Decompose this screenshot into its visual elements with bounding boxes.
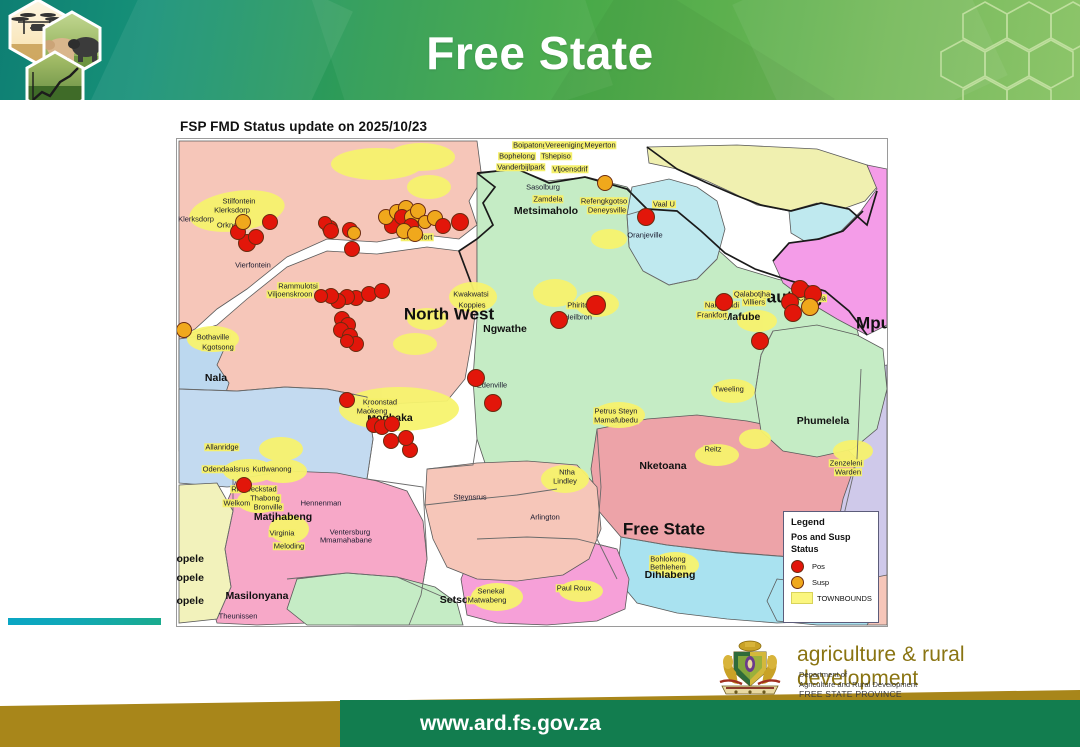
town-label: Tweeling	[713, 385, 745, 393]
town-label: Bophelong	[498, 152, 536, 160]
case-point-pos[interactable]	[236, 477, 252, 493]
town-label: Boipatong	[512, 141, 548, 149]
town-label: Vaal U	[652, 200, 676, 208]
case-point-susp[interactable]	[235, 214, 251, 230]
town-label: Vereeniging	[544, 141, 586, 149]
town-label: Senekal	[476, 587, 505, 595]
townbounds-swatch-icon	[791, 592, 813, 604]
town-label: Viljoenskroon	[267, 290, 314, 298]
case-point-pos[interactable]	[550, 311, 568, 329]
municipality-label: Nketoana	[639, 461, 686, 472]
map-container[interactable]: North West Gauteng Mpumalanga Free State…	[176, 138, 888, 627]
town-label: Mmamahabane	[320, 536, 372, 544]
town-label: Koppies	[457, 301, 486, 309]
municipality-label: Tswelopele	[176, 554, 204, 565]
town-label: Warden	[834, 468, 862, 476]
page-header: Free State	[0, 0, 1080, 106]
case-point-susp[interactable]	[801, 298, 819, 316]
town-label: Vanderbijlpark	[496, 163, 545, 171]
case-point-pos[interactable]	[751, 332, 769, 350]
town-label: Zenzeleni	[829, 459, 864, 467]
case-point-pos[interactable]	[484, 394, 502, 412]
town-label: Steynsrus	[453, 493, 486, 501]
case-point-pos[interactable]	[314, 289, 328, 303]
municipality-label: Dihlabeng	[645, 570, 696, 581]
website-url[interactable]: www.ard.fs.gov.za	[340, 700, 1080, 747]
case-point-pos[interactable]	[637, 208, 655, 226]
town-label: Klerksdorp	[178, 215, 214, 223]
case-point-pos[interactable]	[340, 334, 354, 348]
provincial-crest-icon	[712, 636, 788, 702]
town-label: Mamafubedu	[593, 416, 639, 424]
case-point-susp[interactable]	[407, 226, 423, 242]
case-point-pos[interactable]	[715, 293, 733, 311]
town-label: Welkom	[223, 499, 252, 507]
map-caption: FSP FMD Status update on 2025/10/23	[180, 119, 427, 134]
case-point-pos[interactable]	[451, 213, 469, 231]
case-point-pos[interactable]	[467, 369, 485, 387]
case-point-susp[interactable]	[176, 322, 192, 338]
town-label: Virginia	[269, 529, 296, 537]
town-label: Stilfontein	[222, 197, 257, 205]
map-legend: Legend Pos and Susp Status Pos Susp TOWN…	[783, 511, 879, 623]
municipality-label: Nala	[205, 373, 227, 384]
teal-accent-bar	[8, 618, 161, 625]
legend-subtitle-status: Status	[791, 544, 878, 554]
town-label: Bronville	[253, 503, 284, 511]
town-label: Meloding	[273, 542, 305, 550]
case-point-susp[interactable]	[347, 226, 361, 240]
town-label: Zamdela	[532, 195, 563, 203]
case-point-pos[interactable]	[374, 283, 390, 299]
town-label: Sasolburg	[526, 183, 560, 191]
municipality-label: Mafube	[724, 312, 761, 323]
brand-subtitle: Department of Agriculture and Rural Deve…	[799, 670, 917, 700]
header-divider	[0, 100, 1080, 106]
town-label: Meyerton	[583, 141, 616, 149]
case-point-pos[interactable]	[344, 241, 360, 257]
case-point-pos[interactable]	[339, 392, 355, 408]
municipality-label: Matjhabeng	[254, 512, 312, 523]
town-label: Bethlehem	[649, 563, 687, 571]
town-label: Paul Roux	[556, 584, 593, 592]
case-point-susp[interactable]	[597, 175, 613, 191]
town-label: Matwabeng	[467, 596, 508, 604]
town-label: Hennenman	[301, 499, 342, 507]
town-label: Deneysville	[587, 206, 627, 214]
legend-label: Susp	[812, 578, 829, 587]
legend-item-susp: Susp	[791, 574, 878, 590]
town-label: Ntha	[558, 468, 576, 476]
case-point-pos[interactable]	[586, 295, 606, 315]
town-label: Bothaville	[196, 333, 231, 341]
case-point-pos[interactable]	[383, 433, 399, 449]
susp-marker-icon	[791, 576, 804, 589]
municipality-label: Tswelopele	[176, 596, 204, 607]
town-label: Tshepiso	[540, 152, 572, 160]
case-point-pos[interactable]	[384, 416, 400, 432]
legend-item-pos: Pos	[791, 558, 878, 574]
province-label: Free State	[623, 521, 705, 538]
legend-item-townbounds: TOWNBOUNDS	[791, 590, 878, 606]
town-label: Vljoensdrif	[551, 165, 588, 173]
case-point-pos[interactable]	[323, 223, 339, 239]
town-label: Petrus Steyn	[594, 407, 639, 415]
case-point-pos[interactable]	[435, 218, 451, 234]
town-label: Reitz	[703, 445, 722, 453]
town-label: Lindley	[552, 477, 578, 485]
town-label: Kutlwanong	[251, 465, 292, 473]
legend-title: Legend	[791, 517, 878, 528]
brand-dept-line3: FREE STATE PROVINCE	[799, 689, 917, 700]
town-label: Thabong	[249, 494, 281, 502]
municipality-label: Ngwathe	[483, 324, 527, 335]
case-point-pos[interactable]	[398, 430, 414, 446]
town-label: Klerksdorp	[213, 206, 251, 214]
town-label: Oranjeville	[627, 231, 662, 239]
page-title: Free State	[0, 0, 1080, 106]
province-label: Mpumalanga	[856, 315, 888, 332]
case-point-pos[interactable]	[784, 304, 802, 322]
town-label: Maokeng	[356, 407, 389, 415]
town-label: Odendaalsrus	[202, 465, 251, 473]
municipality-label: Phumelela	[797, 416, 850, 427]
town-label: Kgotsong	[201, 343, 235, 351]
brand-dept-line1: Department of	[799, 670, 917, 680]
pos-marker-icon	[791, 560, 804, 573]
town-label: Frankfort	[696, 311, 728, 319]
legend-subtitle: Pos and Susp	[791, 532, 878, 542]
town-label: Arlington	[530, 513, 560, 521]
brand-dept-line2: Agriculture and Rural Development	[799, 680, 917, 690]
town-label: Refengkgotso	[580, 197, 628, 205]
town-label: Vierfontein	[235, 261, 271, 269]
town-label: Kroonstad	[362, 398, 398, 406]
town-label: Villiers	[742, 298, 766, 306]
town-label: Allanridge	[204, 443, 239, 451]
municipality-label: Tswelopele	[176, 573, 204, 584]
case-point-pos[interactable]	[248, 229, 264, 245]
town-label: Theunissen	[219, 612, 258, 620]
legend-label: Pos	[812, 562, 825, 571]
legend-label: TOWNBOUNDS	[817, 594, 872, 603]
town-label: Kwakwatsi	[452, 290, 489, 298]
case-point-pos[interactable]	[262, 214, 278, 230]
municipality-label: Metsimaholo	[514, 206, 578, 217]
town-label: Heilbron	[564, 313, 592, 321]
municipality-label: Masilonyana	[225, 591, 288, 602]
